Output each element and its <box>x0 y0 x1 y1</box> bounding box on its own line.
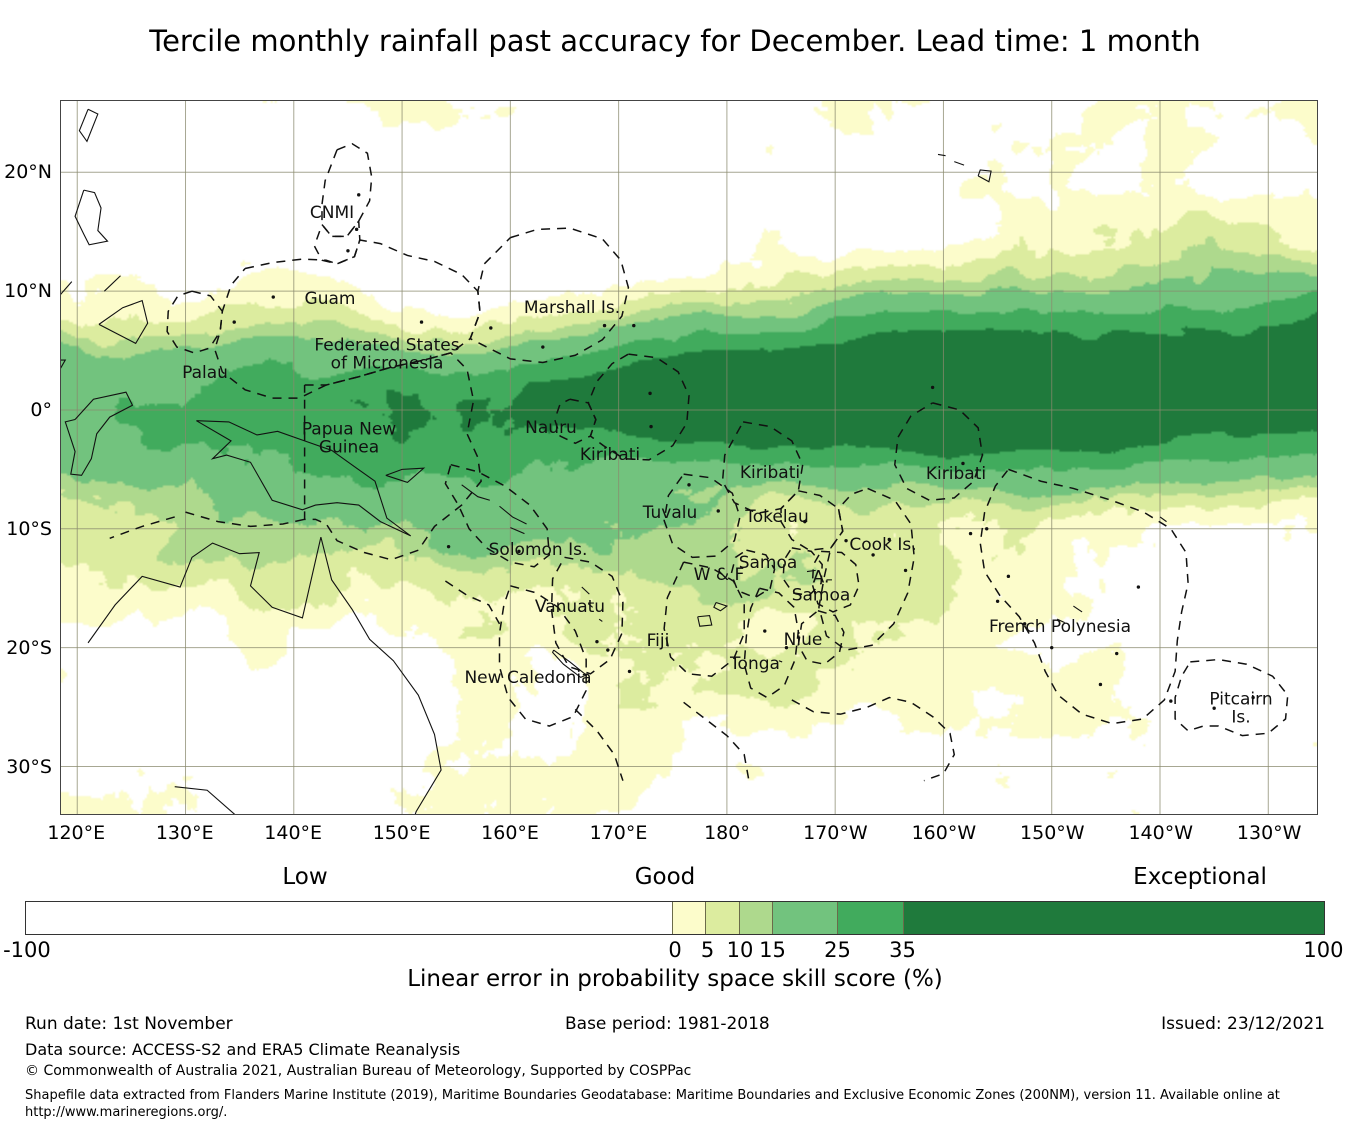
x-tick-1: 130°E <box>156 822 214 844</box>
map-label-vanuatu: Vanuatu <box>535 598 605 616</box>
colorbar-segment-4 <box>773 902 839 934</box>
map-label-papua-new-guinea: Papua New Guinea <box>302 421 396 458</box>
y-tick-5: 30°S <box>6 756 52 778</box>
x-tick-0: 120°E <box>47 822 105 844</box>
colorbar-segment-6 <box>904 902 1324 934</box>
colorbar-category-good: Good <box>635 864 696 890</box>
map-label-federated-states-of-micronesia: Federated States of Micronesia <box>314 337 459 374</box>
map-label-niue: Niue <box>784 631 823 649</box>
map-label-samoa: Samoa <box>739 554 798 572</box>
colorbar-tick-100: 100 <box>1303 938 1343 962</box>
colorbar-segment-3 <box>740 902 773 934</box>
x-tick-6: 180° <box>704 822 750 844</box>
map-label-marshall-islands: Marshall Is. <box>524 299 620 317</box>
map-label-wallis-futuna: W & F <box>694 566 745 584</box>
colorbar[interactable] <box>25 901 1325 935</box>
map-label-nauru: Nauru <box>525 419 577 437</box>
metadata-row: Run date: 1st November Base period: 1981… <box>0 1014 1350 1038</box>
x-tick-3: 150°E <box>373 822 431 844</box>
shapefile-credit-line2: http://www.marineregions.org/. <box>25 1105 227 1120</box>
map-label-guam: Guam <box>305 290 356 308</box>
colorbar-tick-labels: -1000510152535100 <box>0 938 1350 964</box>
colorbar-tick-15: 15 <box>759 938 786 962</box>
colorbar-segment-0 <box>26 902 673 934</box>
x-tick-5: 170°E <box>590 822 648 844</box>
y-tick-3: 10°S <box>6 518 52 540</box>
map-label-fiji: Fiji <box>647 632 670 650</box>
map-label-american-samoa: A. Samoa <box>792 569 851 606</box>
colorbar-tick-10: 10 <box>727 938 754 962</box>
colorbar-tick-25: 25 <box>824 938 851 962</box>
x-tick-7: 170°W <box>803 822 868 844</box>
map-label-tokelau: Tokelau <box>745 508 809 526</box>
run-date: Run date: 1st November <box>25 1014 233 1034</box>
map-container[interactable]: CNMIGuamPalauFederated States of Microne… <box>60 100 1318 815</box>
colorbar-tick-neg100: -100 <box>3 938 51 962</box>
map-label-cnmi: CNMI <box>310 204 354 222</box>
map-label-cook-islands: Cook Is. <box>849 536 916 554</box>
x-tick-10: 140°W <box>1128 822 1193 844</box>
map-label-tuvalu: Tuvalu <box>643 504 698 522</box>
map-label-french-polynesia: French Polynesia <box>989 618 1131 636</box>
data-source: Data source: ACCESS-S2 and ERA5 Climate … <box>25 1040 460 1059</box>
x-tick-4: 160°E <box>481 822 539 844</box>
map-label-layer: CNMIGuamPalauFederated States of Microne… <box>61 101 1317 814</box>
y-tick-2: 0° <box>30 399 52 421</box>
colorbar-segment-5 <box>838 902 904 934</box>
map-label-kiribati-west: Kiribati <box>580 446 640 464</box>
issued-date: Issued: 23/12/2021 <box>1161 1014 1325 1034</box>
colorbar-tick-35: 35 <box>889 938 916 962</box>
map-label-kiribati-east: Kiribati <box>926 465 986 483</box>
map-label-kiribati-central: Kiribati <box>740 464 800 482</box>
map-label-new-caledonia: New Caledonia <box>464 669 591 687</box>
map-label-solomon-islands: Solomon Is. <box>489 541 588 559</box>
map-label-pitcairn-islands: Pitcairn Is. <box>1209 691 1272 728</box>
base-period: Base period: 1981-2018 <box>565 1014 770 1034</box>
x-tick-11: 130°W <box>1237 822 1302 844</box>
shapefile-credit-line1: Shapefile data extracted from Flanders M… <box>25 1088 1280 1103</box>
map-label-tonga: Tonga <box>730 655 780 673</box>
colorbar-category-labels: LowGoodExceptional <box>0 864 1350 894</box>
colorbar-axis-label: Linear error in probability space skill … <box>0 966 1350 992</box>
copyright-notice: © Commonwealth of Australia 2021, Austra… <box>25 1063 691 1079</box>
colorbar-segment-2 <box>706 902 739 934</box>
colorbar-category-exceptional: Exceptional <box>1133 864 1267 890</box>
x-tick-9: 150°W <box>1020 822 1085 844</box>
colorbar-tick-5: 5 <box>701 938 714 962</box>
x-tick-8: 160°W <box>912 822 977 844</box>
colorbar-category-low: Low <box>282 864 327 890</box>
y-tick-0: 20°N <box>4 161 52 183</box>
colorbar-segment-1 <box>673 902 706 934</box>
colorbar-tick-0: 0 <box>668 938 681 962</box>
x-tick-2: 140°E <box>264 822 322 844</box>
page-title: Tercile monthly rainfall past accuracy f… <box>0 24 1350 58</box>
map-label-palau: Palau <box>182 364 228 382</box>
y-tick-4: 20°S <box>6 637 52 659</box>
map-frame: CNMIGuamPalauFederated States of Microne… <box>60 100 1318 815</box>
y-tick-1: 10°N <box>4 280 52 302</box>
